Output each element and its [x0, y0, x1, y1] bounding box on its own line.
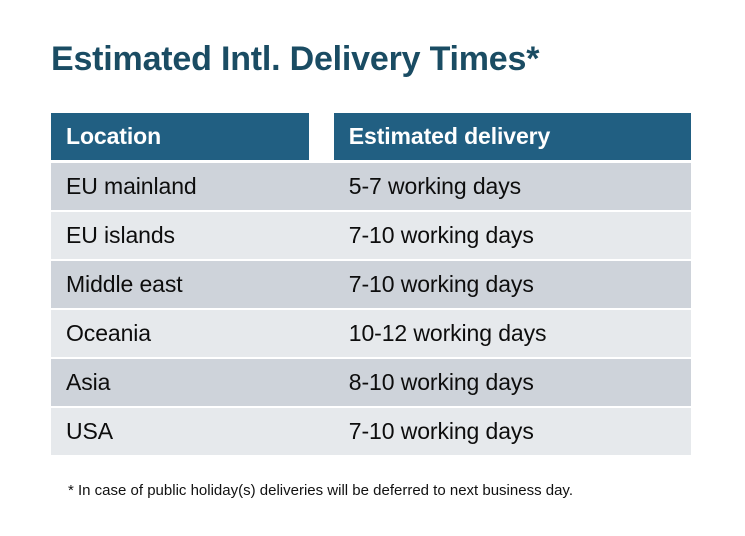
table-row: USA 7-10 working days [51, 408, 691, 455]
cell-location: Middle east [51, 261, 309, 308]
table-row: Oceania 10-12 working days [51, 310, 691, 357]
cell-location: EU mainland [51, 163, 309, 210]
cell-location: USA [51, 408, 309, 455]
column-divider [309, 212, 334, 259]
table-row: Asia 8-10 working days [51, 359, 691, 406]
cell-location: Oceania [51, 310, 309, 357]
cell-estimated-delivery: 10-12 working days [334, 310, 691, 357]
cell-estimated-delivery: 7-10 working days [334, 212, 691, 259]
cell-estimated-delivery: 8-10 working days [334, 359, 691, 406]
column-divider [309, 359, 334, 406]
table-header-row: Location Estimated delivery [51, 113, 691, 160]
column-divider [309, 163, 334, 210]
cell-location: EU islands [51, 212, 309, 259]
table-row: Middle east 7-10 working days [51, 261, 691, 308]
cell-estimated-delivery: 7-10 working days [334, 408, 691, 455]
column-divider [309, 261, 334, 308]
cell-estimated-delivery: 5-7 working days [334, 163, 691, 210]
column-divider [309, 408, 334, 455]
column-header-location: Location [51, 113, 309, 160]
column-divider [309, 310, 334, 357]
delivery-times-panel: Estimated Intl. Delivery Times* Location… [0, 0, 745, 536]
cell-location: Asia [51, 359, 309, 406]
column-header-estimated-delivery: Estimated delivery [334, 113, 691, 160]
table-row: EU islands 7-10 working days [51, 212, 691, 259]
estimated-delivery-times-table: Location Estimated delivery EU mainland … [51, 113, 691, 455]
column-divider [309, 113, 334, 160]
table-row: EU mainland 5-7 working days [51, 163, 691, 210]
page-title: Estimated Intl. Delivery Times* [51, 38, 539, 80]
cell-estimated-delivery: 7-10 working days [334, 261, 691, 308]
footnote-text: * In case of public holiday(s) deliverie… [68, 481, 573, 501]
